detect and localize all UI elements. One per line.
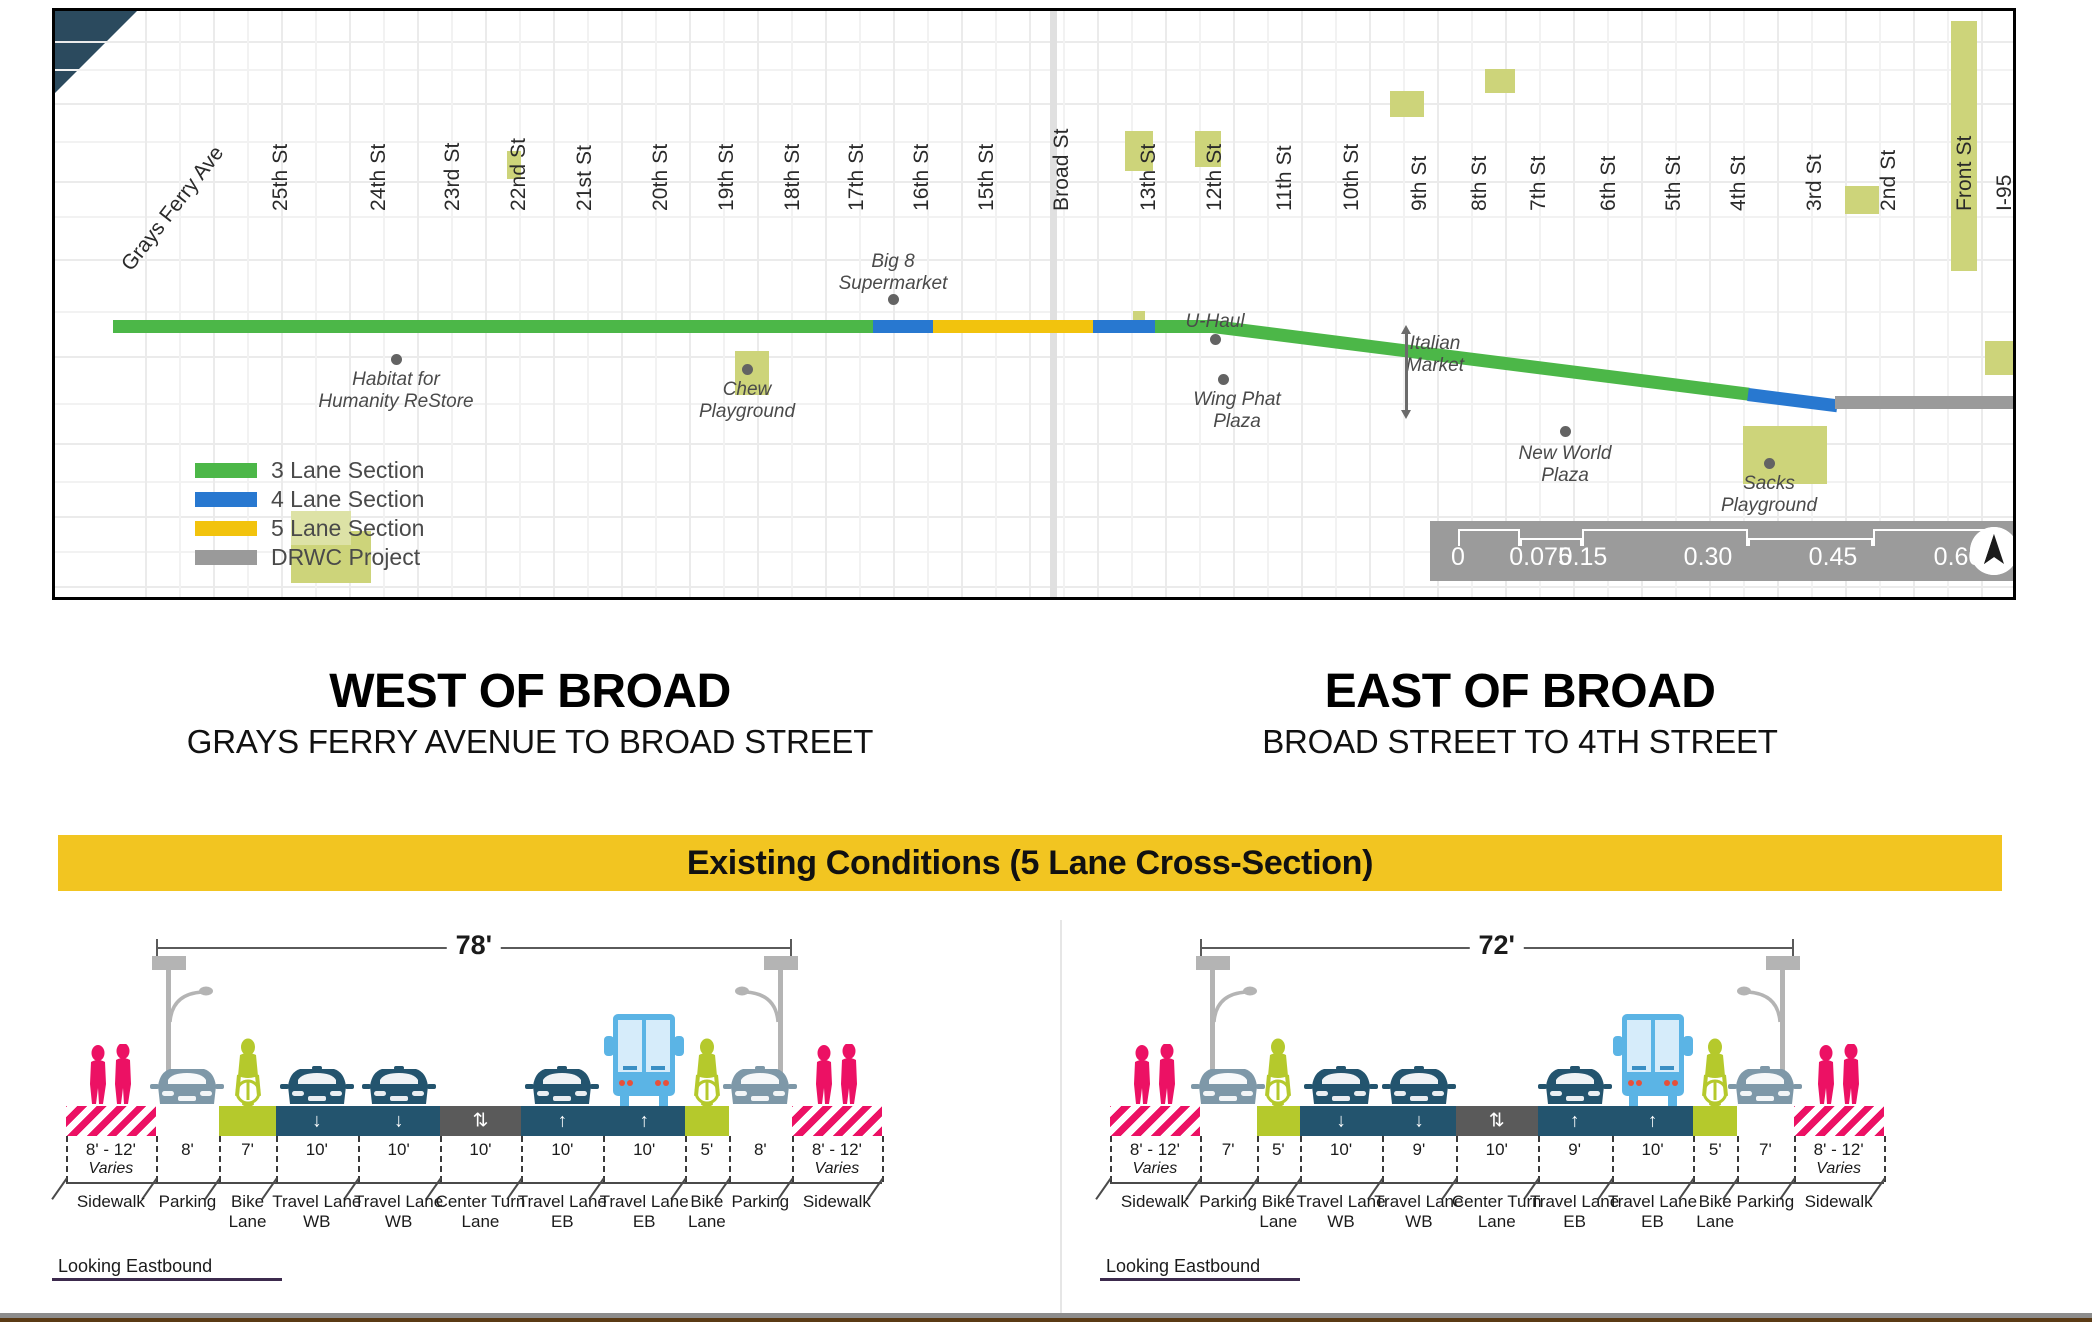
heading-east-subtitle: BROAD STREET TO 4TH STREET — [1050, 723, 1990, 761]
legend-swatch-icon — [195, 492, 257, 507]
dimension-tick — [729, 1136, 731, 1182]
xs-vehicle-car-dark — [360, 1060, 438, 1106]
existing-conditions-banner: Existing Conditions (5 Lane Cross-Sectio… — [58, 835, 2002, 891]
map-scale-bar: 00.0750.150.300.450.60 — [1430, 521, 2016, 581]
map-street-label-17: 8th St — [1468, 156, 1492, 211]
lane-segment-bike — [219, 1106, 276, 1136]
xs-vehicle-car-dark — [1536, 1060, 1614, 1106]
lane-segment-travel: ↓ — [1382, 1106, 1456, 1136]
cross-section-east: 72' — [1100, 920, 2052, 1320]
dimension-tick — [1456, 1136, 1458, 1182]
map-street-label-11: Broad St — [1050, 128, 1074, 211]
overall-width-label: 72' — [1470, 930, 1524, 961]
street-light-arm — [1734, 978, 1782, 1024]
map-street-line — [655, 11, 657, 597]
heading-west-title: WEST OF BROAD — [60, 665, 1000, 719]
lane-segment-parking — [156, 1106, 219, 1136]
dimension-tick — [521, 1136, 523, 1182]
roadway-strip: ↓↓⇅↑↑ — [1110, 1106, 1884, 1136]
map-street-line — [825, 11, 827, 597]
map-street-line — [1573, 11, 1575, 597]
lane-segment-travel: ↑ — [521, 1106, 603, 1136]
map-street-label-15: 10th St — [1340, 144, 1364, 211]
map-street-line — [1845, 11, 1847, 597]
map-street-label-19: 6th St — [1597, 156, 1621, 211]
pedestrian-icon — [1127, 1044, 1183, 1106]
map-street-line — [1165, 11, 1167, 597]
xs-vehicle-pedestrians — [809, 1044, 865, 1106]
map-street-line — [485, 11, 487, 597]
xs-vehicle-bus — [1610, 1010, 1696, 1106]
map-poi-label-5: ItalianMarket — [1406, 333, 1464, 378]
lane-dimension-value-9: 8' — [754, 1140, 767, 1160]
map-street-label-7: 18th St — [781, 144, 805, 211]
lane-segment-parking — [729, 1106, 792, 1136]
dimension-tick — [1737, 1136, 1739, 1182]
car-icon — [1380, 1060, 1458, 1106]
xs-vehicle-car-dark — [523, 1060, 601, 1106]
map-street-line — [1131, 11, 1133, 597]
lane-dimension-value-6: 9' — [1568, 1140, 1581, 1160]
map-poi-dot — [1560, 426, 1571, 437]
map-park — [1845, 186, 1879, 214]
xs-vehicle-cyclist — [689, 1038, 725, 1106]
map-street-line — [451, 11, 453, 597]
legend-label: DRWC Project — [271, 544, 420, 571]
banner-label: Existing Conditions (5 Lane Cross-Sectio… — [687, 844, 1373, 883]
map-street-line — [757, 11, 759, 597]
dimension-tick — [1110, 1136, 1112, 1182]
map-street-label-13: 12th St — [1203, 144, 1227, 211]
pedestrian-icon — [1811, 1044, 1867, 1106]
map-street-line — [587, 11, 589, 597]
lane-segment-turn: ⇅ — [440, 1106, 522, 1136]
lane-segment-sidewalk — [66, 1106, 156, 1136]
route-drwc-project — [1835, 396, 2015, 409]
lane-dimension-value-7: 10' — [1641, 1140, 1663, 1160]
dimension-tick — [1257, 1136, 1259, 1182]
map-street-line — [145, 11, 147, 597]
lane-dimension-value-8: 5' — [1709, 1140, 1722, 1160]
map-street-line — [723, 11, 725, 597]
street-light-head — [1766, 956, 1800, 970]
scale-tick-label-2: 0.15 — [1559, 543, 1608, 572]
lane-dimension-value-2: 5' — [1272, 1140, 1285, 1160]
map-street-line — [1471, 11, 1473, 597]
legend-item-3: DRWC Project — [195, 543, 424, 572]
lane-segment-sidewalk — [792, 1106, 882, 1136]
car-icon — [148, 1060, 226, 1106]
view-direction-underline — [52, 1278, 282, 1281]
map-street-line — [1981, 11, 1983, 597]
street-light-head — [1196, 956, 1230, 970]
dimension-tick — [66, 1136, 68, 1182]
map-street-label-20: 5th St — [1662, 156, 1686, 211]
legend-label: 5 Lane Section — [271, 515, 424, 542]
dimension-tick — [1612, 1136, 1614, 1182]
map-poi-label-1: Habitat forHumanity ReStore — [318, 369, 473, 414]
map-street-label-10: 15th St — [975, 144, 999, 211]
map-street-label-22: 3rd St — [1803, 154, 1827, 211]
map-street-label-6: 19th St — [715, 144, 739, 211]
cross-section-west: 78' — [52, 920, 1052, 1320]
route-5-lane — [933, 320, 1093, 333]
lane-segment-travel: ↑ — [1538, 1106, 1612, 1136]
dimension-tick — [685, 1136, 687, 1182]
map-street-line — [179, 11, 181, 597]
overall-width-dimension: 72' — [1200, 938, 1794, 958]
lane-segment-sidewalk — [1794, 1106, 1884, 1136]
heading-east: EAST OF BROAD BROAD STREET TO 4TH STREET — [1050, 665, 1990, 761]
map-street-label-18: 7th St — [1527, 156, 1551, 211]
xs-vehicle-car-dark — [1380, 1060, 1458, 1106]
map-street-line — [1505, 11, 1507, 597]
street-light-head — [764, 956, 798, 970]
xs-vehicle-car-gray — [1189, 1060, 1267, 1106]
map-street-line — [621, 11, 623, 597]
dimension-tick — [1884, 1136, 1886, 1182]
lane-dimension-value-1: 7' — [1222, 1140, 1235, 1160]
route-4-lane-diagonal — [1747, 388, 1838, 412]
overall-width-label: 78' — [447, 930, 501, 961]
bus-icon — [601, 1010, 687, 1106]
dimension-tick — [1382, 1136, 1384, 1182]
cyclist-icon — [1260, 1038, 1296, 1106]
xs-vehicle-pedestrians-left — [1127, 1044, 1183, 1106]
dimension-tick — [1693, 1136, 1695, 1182]
xs-vehicle-pedestrians — [1811, 1044, 1867, 1106]
map-street-line — [791, 11, 793, 597]
car-icon — [360, 1060, 438, 1106]
legend-item-2: 5 Lane Section — [195, 514, 424, 543]
cross-section-divider — [1060, 920, 1062, 1320]
view-direction-label: Looking Eastbound — [58, 1256, 212, 1277]
map-street-line — [1641, 11, 1643, 597]
map-street-label-21: 4th St — [1727, 156, 1751, 211]
map-poi-dot — [1764, 458, 1775, 469]
lane-dimension-value-6: 10' — [551, 1140, 573, 1160]
lane-segment-bike — [1257, 1106, 1301, 1136]
scale-tick-label-3: 0.30 — [1684, 543, 1733, 572]
arrow-up-icon: ↑ — [1648, 1112, 1658, 1131]
street-light-head — [152, 956, 186, 970]
xs-vehicle-cyclist — [1260, 1038, 1296, 1106]
view-direction-label: Looking Eastbound — [1106, 1256, 1260, 1277]
lane-dimension-value-9: 7' — [1759, 1140, 1772, 1160]
map-street-line — [995, 11, 997, 597]
car-icon — [721, 1060, 799, 1106]
xs-vehicle-bus — [601, 1010, 687, 1106]
map-street-line — [1879, 11, 1881, 597]
legend-swatch-icon — [195, 521, 257, 536]
lane-segment-travel: ↑ — [603, 1106, 685, 1136]
lane-segment-travel: ↓ — [358, 1106, 440, 1136]
xs-vehicle-car-dark2 — [721, 1060, 799, 1106]
map-street-line — [519, 11, 521, 597]
arrow-up-icon: ↑ — [639, 1112, 649, 1131]
two-way-arrow-icon: ⇅ — [472, 1112, 488, 1131]
lane-segment-bike — [1693, 1106, 1737, 1136]
pedestrian-icon — [83, 1044, 139, 1106]
heading-west-subtitle: GRAYS FERRY AVENUE TO BROAD STREET — [60, 723, 1000, 761]
dimension-tick — [276, 1136, 278, 1182]
dimension-tick — [1794, 1136, 1796, 1182]
map-street-line — [1539, 11, 1541, 597]
lane-dimension-value-2: 7' — [241, 1140, 254, 1160]
route-4-lane — [1093, 320, 1155, 333]
car-icon — [1726, 1060, 1804, 1106]
map-street-line — [927, 11, 929, 597]
map-park — [1390, 91, 1424, 117]
map-poi-label-4: Wing PhatPlaza — [1193, 389, 1281, 434]
car-icon — [523, 1060, 601, 1106]
map-street-line — [1199, 11, 1201, 597]
street-light-arm — [168, 978, 216, 1024]
lane-dimension-value-3: 10' — [306, 1140, 328, 1160]
xs-vehicle-cyclist — [230, 1038, 266, 1106]
map-street-label-9: 16th St — [910, 144, 934, 211]
lane-dimension-value-1: 8' — [181, 1140, 194, 1160]
lane-segment-bike — [685, 1106, 729, 1136]
bottom-bar-brown — [0, 1318, 2092, 1322]
lane-segment-turn: ⇅ — [1456, 1106, 1538, 1136]
lane-dimension-value-7: 10' — [633, 1140, 655, 1160]
dimension-tick — [792, 1136, 794, 1182]
xs-vehicle-car-dark2 — [1726, 1060, 1804, 1106]
dimension-tick — [358, 1136, 360, 1182]
map-street-line — [1675, 11, 1677, 597]
map-street-line — [1709, 11, 1711, 597]
lane-name-label-10: Sidewalk — [782, 1192, 892, 1212]
arrow-up-icon: ↑ — [558, 1112, 568, 1131]
map-street-label-2: 23rd St — [441, 143, 465, 211]
lane-segment-parking — [1737, 1106, 1794, 1136]
map-poi-label-2: ChewPlayground — [699, 379, 795, 424]
map-street-label-14: 11th St — [1273, 145, 1297, 211]
map-street-line — [1607, 11, 1609, 597]
label-baseline — [66, 1182, 882, 1184]
map-poi-dot — [1210, 334, 1221, 345]
heading-west: WEST OF BROAD GRAYS FERRY AVENUE TO BROA… — [60, 665, 1000, 761]
map-poi-label-7: SacksPlayground — [1721, 473, 1817, 518]
lane-dimension-value-8: 5' — [701, 1140, 714, 1160]
map-street-label-12: 13th St — [1137, 144, 1161, 211]
lane-dimension-value-4: 9' — [1413, 1140, 1426, 1160]
map-corner-marker — [55, 11, 137, 93]
map-street-line — [1913, 11, 1915, 597]
dimension-tick — [1538, 1136, 1540, 1182]
map-street-label-5: 20th St — [649, 144, 673, 211]
map-street-line — [1335, 11, 1337, 597]
lane-dimension-value-5: 10' — [1486, 1140, 1508, 1160]
map-street-label-1: 24th St — [367, 144, 391, 211]
dimension-tick — [440, 1136, 442, 1182]
cyclist-icon — [689, 1038, 725, 1106]
route-3-lane-diagonal — [1212, 320, 1749, 401]
roadway-strip: ↓↓⇅↑↑ — [66, 1106, 882, 1136]
car-icon — [1302, 1060, 1380, 1106]
lane-segment-sidewalk — [1110, 1106, 1200, 1136]
bus-icon — [1610, 1010, 1696, 1106]
lane-dimensions: 8' - 12'Varies7'5'10'9'10'9'10'5'7'8' - … — [1110, 1136, 1884, 1182]
map-street-label-23: 2nd St — [1877, 150, 1901, 211]
section-headings: WEST OF BROAD GRAYS FERRY AVENUE TO BROA… — [0, 665, 2092, 795]
street-light-arm — [732, 978, 780, 1024]
two-way-arrow-icon: ⇅ — [1489, 1112, 1505, 1131]
cyclist-icon — [230, 1038, 266, 1106]
map-poi-label-6: New WorldPlaza — [1519, 443, 1612, 488]
car-icon — [278, 1060, 356, 1106]
map-street-line — [1369, 11, 1371, 597]
lane-dimension-value-4: 10' — [388, 1140, 410, 1160]
lane-segment-travel: ↓ — [1300, 1106, 1382, 1136]
lane-dimensions: 8' - 12'Varies8'7'10'10'10'10'10'5'8'8' … — [66, 1136, 882, 1182]
map-street-line — [1063, 11, 1065, 597]
lane-dimension-value-0: 8' - 12'Varies — [86, 1140, 136, 1178]
dimension-tick — [882, 1136, 884, 1182]
map-street-line — [689, 11, 691, 597]
arrow-down-icon: ↓ — [312, 1112, 322, 1131]
legend-item-0: 3 Lane Section — [195, 456, 424, 485]
map-poi-label-0: Big 8Supermarket — [839, 251, 948, 296]
map-street-label-3: 22nd St — [507, 138, 531, 211]
map-poi-dot — [1218, 374, 1229, 385]
label-baseline — [1110, 1182, 1884, 1184]
map-street-label-0: 25th St — [269, 144, 293, 211]
dimension-tick — [603, 1136, 605, 1182]
map-street-line — [1437, 11, 1439, 597]
route-3-lane — [113, 320, 873, 333]
xs-vehicle-car-dark — [278, 1060, 356, 1106]
arrow-up-icon: ↑ — [1570, 1112, 1580, 1131]
map-street-line — [859, 11, 861, 597]
map-street-label-4: 21st St — [573, 145, 597, 211]
car-icon — [1189, 1060, 1267, 1106]
legend-label: 4 Lane Section — [271, 486, 424, 513]
map-poi-label-3: U-Haul — [1185, 311, 1244, 333]
map-street-line — [1029, 11, 1031, 597]
italian-market-extent-arrow — [1405, 333, 1408, 411]
legend-swatch-icon — [195, 463, 257, 478]
broad-street-line — [1050, 11, 1057, 597]
map-street-label-24: Front St — [1953, 136, 1977, 212]
xs-vehicle-pedestrians-left — [83, 1044, 139, 1106]
map-street-label-8: 17th St — [845, 144, 869, 211]
legend-label: 3 Lane Section — [271, 457, 424, 484]
lane-segment-travel: ↓ — [276, 1106, 358, 1136]
dimension-tick — [1300, 1136, 1302, 1182]
arrow-down-icon: ↓ — [394, 1112, 404, 1131]
map-park — [1985, 341, 2016, 375]
dimension-tick — [219, 1136, 221, 1182]
scale-labels: 00.0750.150.300.450.60 — [1430, 543, 2016, 573]
map-legend: 3 Lane Section 4 Lane Section 5 Lane Sec… — [195, 456, 424, 572]
map-poi-dot — [742, 364, 753, 375]
lane-dimension-value-0: 8' - 12'Varies — [1130, 1140, 1180, 1178]
map-street-label-16: 9th St — [1408, 156, 1432, 211]
corridor-map: 25th St24th St23rd St22nd St21st St20th … — [52, 8, 2016, 600]
map-street-line — [553, 11, 555, 597]
arrow-down-icon: ↓ — [1414, 1112, 1424, 1131]
map-street-line — [1301, 11, 1303, 597]
legend-swatch-icon — [195, 550, 257, 565]
map-street-label-25: I-95 — [1993, 174, 2016, 211]
heading-east-title: EAST OF BROAD — [1050, 665, 1990, 719]
lane-dimension-value-3: 10' — [1330, 1140, 1352, 1160]
dimension-tick — [1200, 1136, 1202, 1182]
map-poi-dot — [391, 354, 402, 365]
car-icon — [1536, 1060, 1614, 1106]
map-street-line — [1097, 11, 1099, 597]
map-street-line — [1947, 11, 1949, 597]
map-park — [1485, 69, 1515, 93]
dimension-tick — [156, 1136, 158, 1182]
map-street-line — [1233, 11, 1235, 597]
pedestrian-icon — [809, 1044, 865, 1106]
scale-tick-label-4: 0.45 — [1809, 543, 1858, 572]
lane-dimension-value-5: 10' — [469, 1140, 491, 1160]
xs-vehicle-car-dark — [1302, 1060, 1380, 1106]
arrow-down-icon: ↓ — [1336, 1112, 1346, 1131]
north-arrow-icon — [1970, 527, 2016, 575]
overall-width-dimension: 78' — [156, 938, 792, 958]
street-light-arm — [1212, 978, 1260, 1024]
view-direction-underline — [1100, 1278, 1300, 1281]
legend-item-1: 4 Lane Section — [195, 485, 424, 514]
scale-tick-label-0: 0 — [1451, 543, 1465, 572]
lane-segment-travel: ↑ — [1612, 1106, 1694, 1136]
xs-vehicle-car-gray — [148, 1060, 226, 1106]
route-4-lane — [873, 320, 933, 333]
map-street-line — [1267, 11, 1269, 597]
slide-root: 25th St24th St23rd St22nd St21st St20th … — [0, 0, 2092, 1322]
lane-name-label-10: Sidewalk — [1784, 1192, 1894, 1212]
lane-dimension-value-10: 8' - 12'Varies — [812, 1140, 862, 1178]
map-street-line — [961, 11, 963, 597]
lane-dimension-value-10: 8' - 12'Varies — [1814, 1140, 1864, 1178]
lane-segment-parking — [1200, 1106, 1257, 1136]
